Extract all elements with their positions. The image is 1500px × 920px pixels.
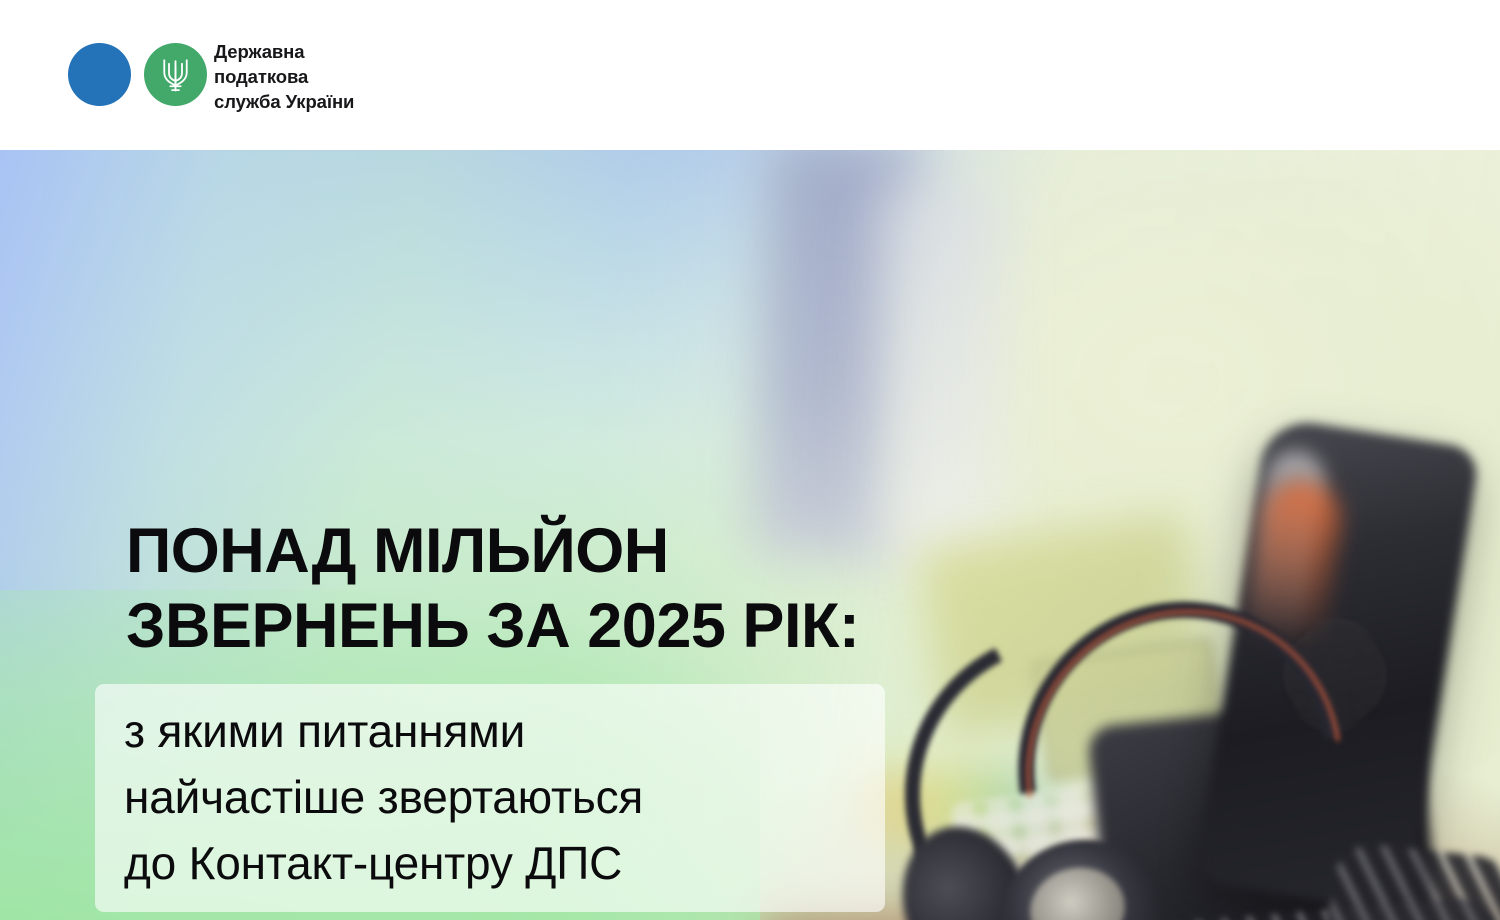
ukraine-trident-icon [158, 56, 193, 94]
blurred-monitor-shape-2 [880, 180, 1000, 560]
organization-logo[interactable]: Державна податкова служба України [68, 38, 354, 114]
hero-banner: ПОНАД МІЛЬЙОН ЗВЕРНЕНЬ ЗА 2025 РІК: з як… [0, 150, 1500, 920]
page-title: ПОНАД МІЛЬЙОН ЗВЕРНЕНЬ ЗА 2025 РІК: [126, 514, 859, 664]
page-root: Державна податкова служба України [0, 0, 1500, 920]
blue-circle-icon [68, 43, 131, 106]
site-header: Державна податкова служба України [0, 0, 1500, 150]
logo-marks [68, 38, 208, 114]
page-subtitle: з якими питаннями найчастіше звертаються… [124, 698, 884, 896]
organization-name: Державна податкова служба України [214, 39, 354, 114]
